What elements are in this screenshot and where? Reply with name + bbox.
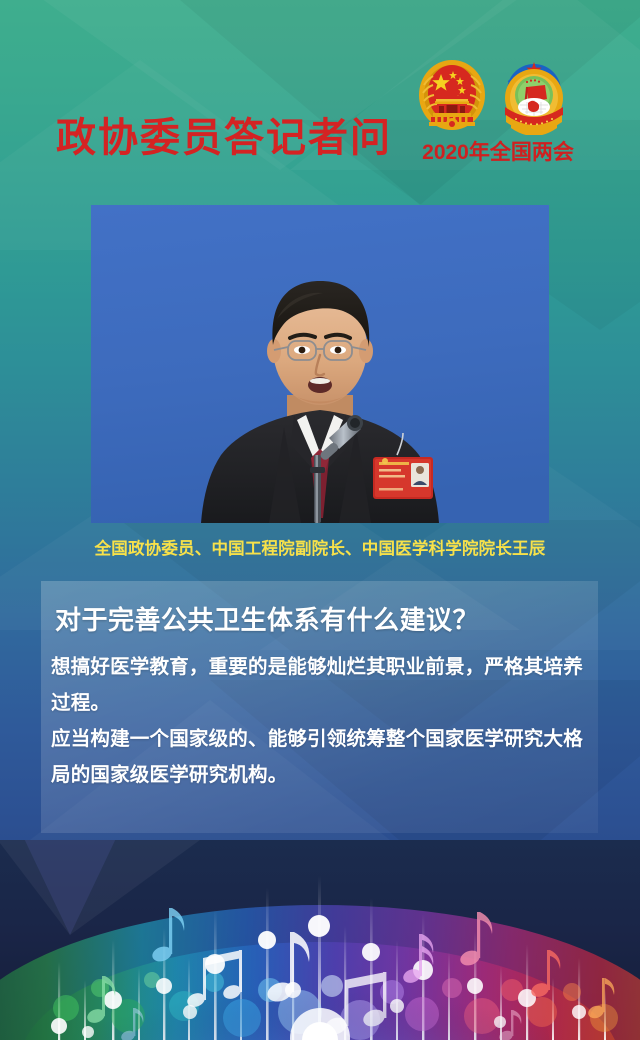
photo-caption: 全国政协委员、中国工程院副院长、中国医学科学院院长王辰: [0, 535, 640, 559]
music-notes-artwork: [0, 840, 640, 1040]
answer-panel: 对于完善公共卫生体系有什么建议？ 想搞好医学教育，重要的是能够灿烂其职业前景，严…: [41, 581, 598, 833]
emblem-group: [415, 57, 575, 135]
answer-body: 想搞好医学教育，重要的是能够灿烂其职业前景，严格其培养过程。 应当构建一个国家级…: [51, 649, 596, 793]
answer-paragraph: 应当构建一个国家级的、能够引领统筹整个国家医学研究大格局的国家级医学研究机构。: [51, 721, 596, 793]
national-emblem-icon: [415, 57, 489, 135]
meeting-tag: 2020年全国两会: [415, 136, 581, 166]
answer-paragraph: 想搞好医学教育，重要的是能够灿烂其职业前景，严格其培养过程。: [51, 649, 596, 721]
question-text: 对于完善公共卫生体系有什么建议？: [55, 600, 479, 637]
poster-header: 政协委员答记者问: [0, 0, 640, 195]
page-title: 政协委员答记者问: [56, 118, 392, 158]
poster: 政协委员答记者问: [0, 0, 640, 1040]
cppcc-emblem-icon: [497, 57, 571, 135]
speaker-photo: [91, 205, 549, 523]
